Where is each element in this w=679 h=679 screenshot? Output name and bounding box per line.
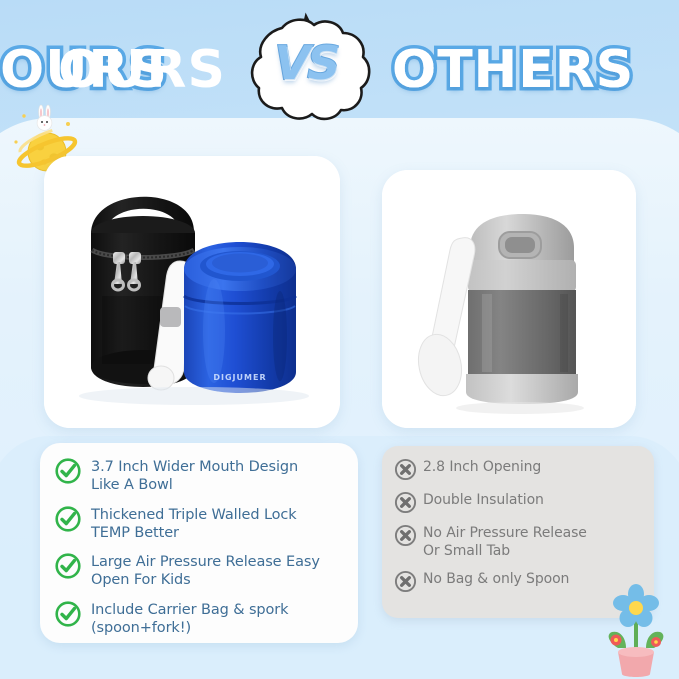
- x-circle-icon: [394, 570, 417, 593]
- others-product-illustration: [382, 170, 636, 428]
- list-item: Double Insulation: [394, 491, 644, 514]
- infographic-stage: OURS OURS OTHERS OTHERS VS: [0, 0, 679, 679]
- list-item-line1: Large Air Pressure Release Easy: [91, 553, 320, 571]
- list-item: 3.7 Inch Wider Mouth Design Like A Bowl: [54, 457, 346, 495]
- ours-title: OURS: [58, 40, 226, 100]
- x-circle-icon: [394, 524, 417, 547]
- list-item: No Air Pressure Release Or Small Tab: [394, 524, 644, 560]
- list-item-line1: 3.7 Inch Wider Mouth Design: [91, 458, 298, 476]
- others-title: OTHERS: [392, 40, 634, 100]
- list-item-line2: (spoon+fork!): [91, 619, 288, 637]
- jar-brand-label: DIGJUMER: [213, 373, 266, 382]
- list-item-text: Include Carrier Bag & spork (spoon+fork!…: [91, 600, 288, 638]
- list-item-line2: Or Small Tab: [423, 543, 587, 561]
- list-item-line1: Thickened Triple Walled Lock: [91, 506, 297, 524]
- list-item: 2.8 Inch Opening: [394, 458, 644, 481]
- blue-food-jar: DIGJUMER: [184, 242, 296, 393]
- list-item-line1: Double Insulation: [423, 492, 544, 510]
- check-circle-icon: [54, 600, 82, 628]
- list-item-text: Thickened Triple Walled Lock TEMP Better: [91, 505, 297, 543]
- ours-product-image: DIGJUMER: [44, 156, 340, 428]
- list-item: Thickened Triple Walled Lock TEMP Better: [54, 505, 346, 543]
- list-item-line1: 2.8 Inch Opening: [423, 459, 541, 477]
- list-item: Large Air Pressure Release Easy Open For…: [54, 552, 346, 590]
- check-circle-icon: [54, 505, 82, 533]
- ours-feature-list: 3.7 Inch Wider Mouth Design Like A Bowl …: [40, 443, 358, 643]
- list-item-line2: Like A Bowl: [91, 476, 298, 494]
- vs-badge: VS: [238, 12, 374, 132]
- list-item-line1: No Air Pressure Release: [423, 525, 587, 543]
- flower-pot-icon: [596, 582, 676, 678]
- list-item-text: Large Air Pressure Release Easy Open For…: [91, 552, 320, 590]
- check-circle-icon: [54, 552, 82, 580]
- vs-label: VS: [238, 36, 374, 90]
- header: OURS OURS OTHERS OTHERS VS: [0, 18, 679, 118]
- list-item-line1: No Bag & only Spoon: [423, 571, 569, 589]
- list-item-line2: TEMP Better: [91, 524, 297, 542]
- list-item-text: Double Insulation: [423, 491, 544, 510]
- list-item-text: No Bag & only Spoon: [423, 570, 569, 589]
- x-circle-icon: [394, 491, 417, 514]
- list-item-text: 2.8 Inch Opening: [423, 458, 541, 477]
- list-item-line2: Open For Kids: [91, 571, 320, 589]
- list-item: Include Carrier Bag & spork (spoon+fork!…: [54, 600, 346, 638]
- check-circle-icon: [54, 457, 82, 485]
- x-circle-icon: [394, 458, 417, 481]
- ours-product-illustration: DIGJUMER: [44, 156, 340, 428]
- others-product-image: [382, 170, 636, 428]
- list-item-line1: Include Carrier Bag & spork: [91, 601, 288, 619]
- list-item-text: 3.7 Inch Wider Mouth Design Like A Bowl: [91, 457, 298, 495]
- list-item-text: No Air Pressure Release Or Small Tab: [423, 524, 587, 560]
